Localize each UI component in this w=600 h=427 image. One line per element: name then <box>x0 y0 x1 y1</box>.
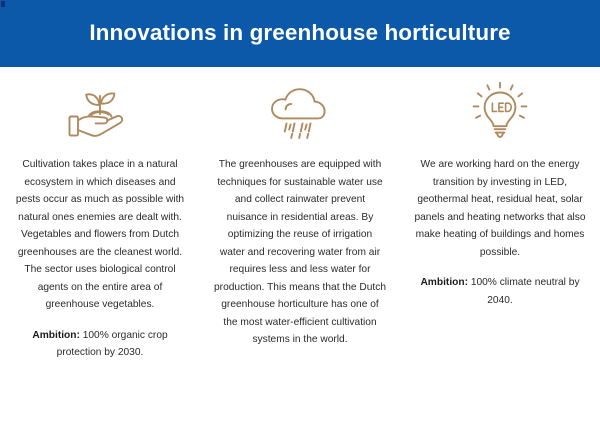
column-cultivation: Cultivation takes place in a natural eco… <box>0 81 200 362</box>
cursor-artifact <box>1 1 5 7</box>
page-header: Innovations in greenhouse horticulture <box>0 0 600 67</box>
infographic-page: Innovations in greenhouse horticulture <box>0 0 600 427</box>
columns-container: Cultivation takes place in a natural eco… <box>0 67 600 362</box>
ambition-label: Ambition: <box>32 330 80 341</box>
column-body-text: Cultivation takes place in a natural eco… <box>14 156 186 314</box>
column-body-text: The greenhouses are equipped with techni… <box>214 156 386 349</box>
column-body-text: We are working hard on the energy transi… <box>414 156 586 261</box>
hand-with-seedling-icon <box>64 81 136 143</box>
ambition-text: 100% climate neutral by 2040. <box>468 277 580 306</box>
column-ambition: Ambition: 100% organic crop protection b… <box>14 327 186 362</box>
column-water: The greenhouses are equipped with techni… <box>200 81 400 362</box>
rain-cloud-icon <box>265 81 335 143</box>
ambition-label: Ambition: <box>420 277 468 288</box>
column-energy: We are working hard on the energy transi… <box>400 81 600 362</box>
page-title: Innovations in greenhouse horticulture <box>79 22 520 45</box>
led-lightbulb-icon <box>466 81 534 143</box>
column-ambition: Ambition: 100% climate neutral by 2040. <box>414 274 586 309</box>
